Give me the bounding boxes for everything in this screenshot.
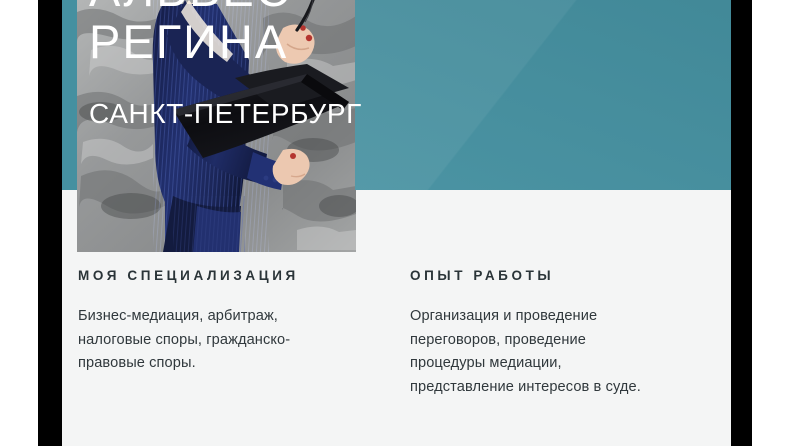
body-line: налоговые споры, гражданско- bbox=[78, 329, 378, 353]
column-body-experience: Организация и проведение переговоров, пр… bbox=[410, 305, 710, 399]
body-line: процедуры медиации, bbox=[410, 352, 710, 376]
body-line: Организация и проведение bbox=[410, 305, 710, 329]
hero-name-line1: АЛЬВЕС bbox=[89, 0, 292, 13]
column-specialization: МОЯ СПЕЦИАЛИЗАЦИЯ Бизнес-медиация, арбит… bbox=[78, 268, 378, 376]
accent-strip-left bbox=[62, 0, 77, 190]
poster-canvas: АЛЬВЕС РЕГИНА САНКТ-ПЕТЕРБУРГ МОЯ СПЕЦИА… bbox=[0, 0, 794, 446]
hero-city: САНКТ-ПЕТЕРБУРГ bbox=[89, 99, 362, 129]
letterbox-band-right bbox=[731, 0, 752, 446]
letterbox-band-left bbox=[38, 0, 62, 446]
column-experience: ОПЫТ РАБОТЫ Организация и проведение пер… bbox=[410, 268, 710, 399]
accent-panel bbox=[355, 0, 731, 190]
body-line: правовые споры. bbox=[78, 352, 378, 376]
column-body-specialization: Бизнес-медиация, арбитраж, налоговые спо… bbox=[78, 305, 378, 376]
hero-name-line2: РЕГИНА bbox=[89, 18, 288, 65]
body-line: переговоров, проведение bbox=[410, 329, 710, 353]
column-heading-experience: ОПЫТ РАБОТЫ bbox=[410, 268, 710, 283]
body-line: представление интересов в суде. bbox=[410, 376, 710, 400]
body-line: Бизнес-медиация, арбитраж, bbox=[78, 305, 378, 329]
resume-card: АЛЬВЕС РЕГИНА САНКТ-ПЕТЕРБУРГ МОЯ СПЕЦИА… bbox=[62, 0, 731, 446]
column-heading-specialization: МОЯ СПЕЦИАЛИЗАЦИЯ bbox=[78, 268, 378, 283]
